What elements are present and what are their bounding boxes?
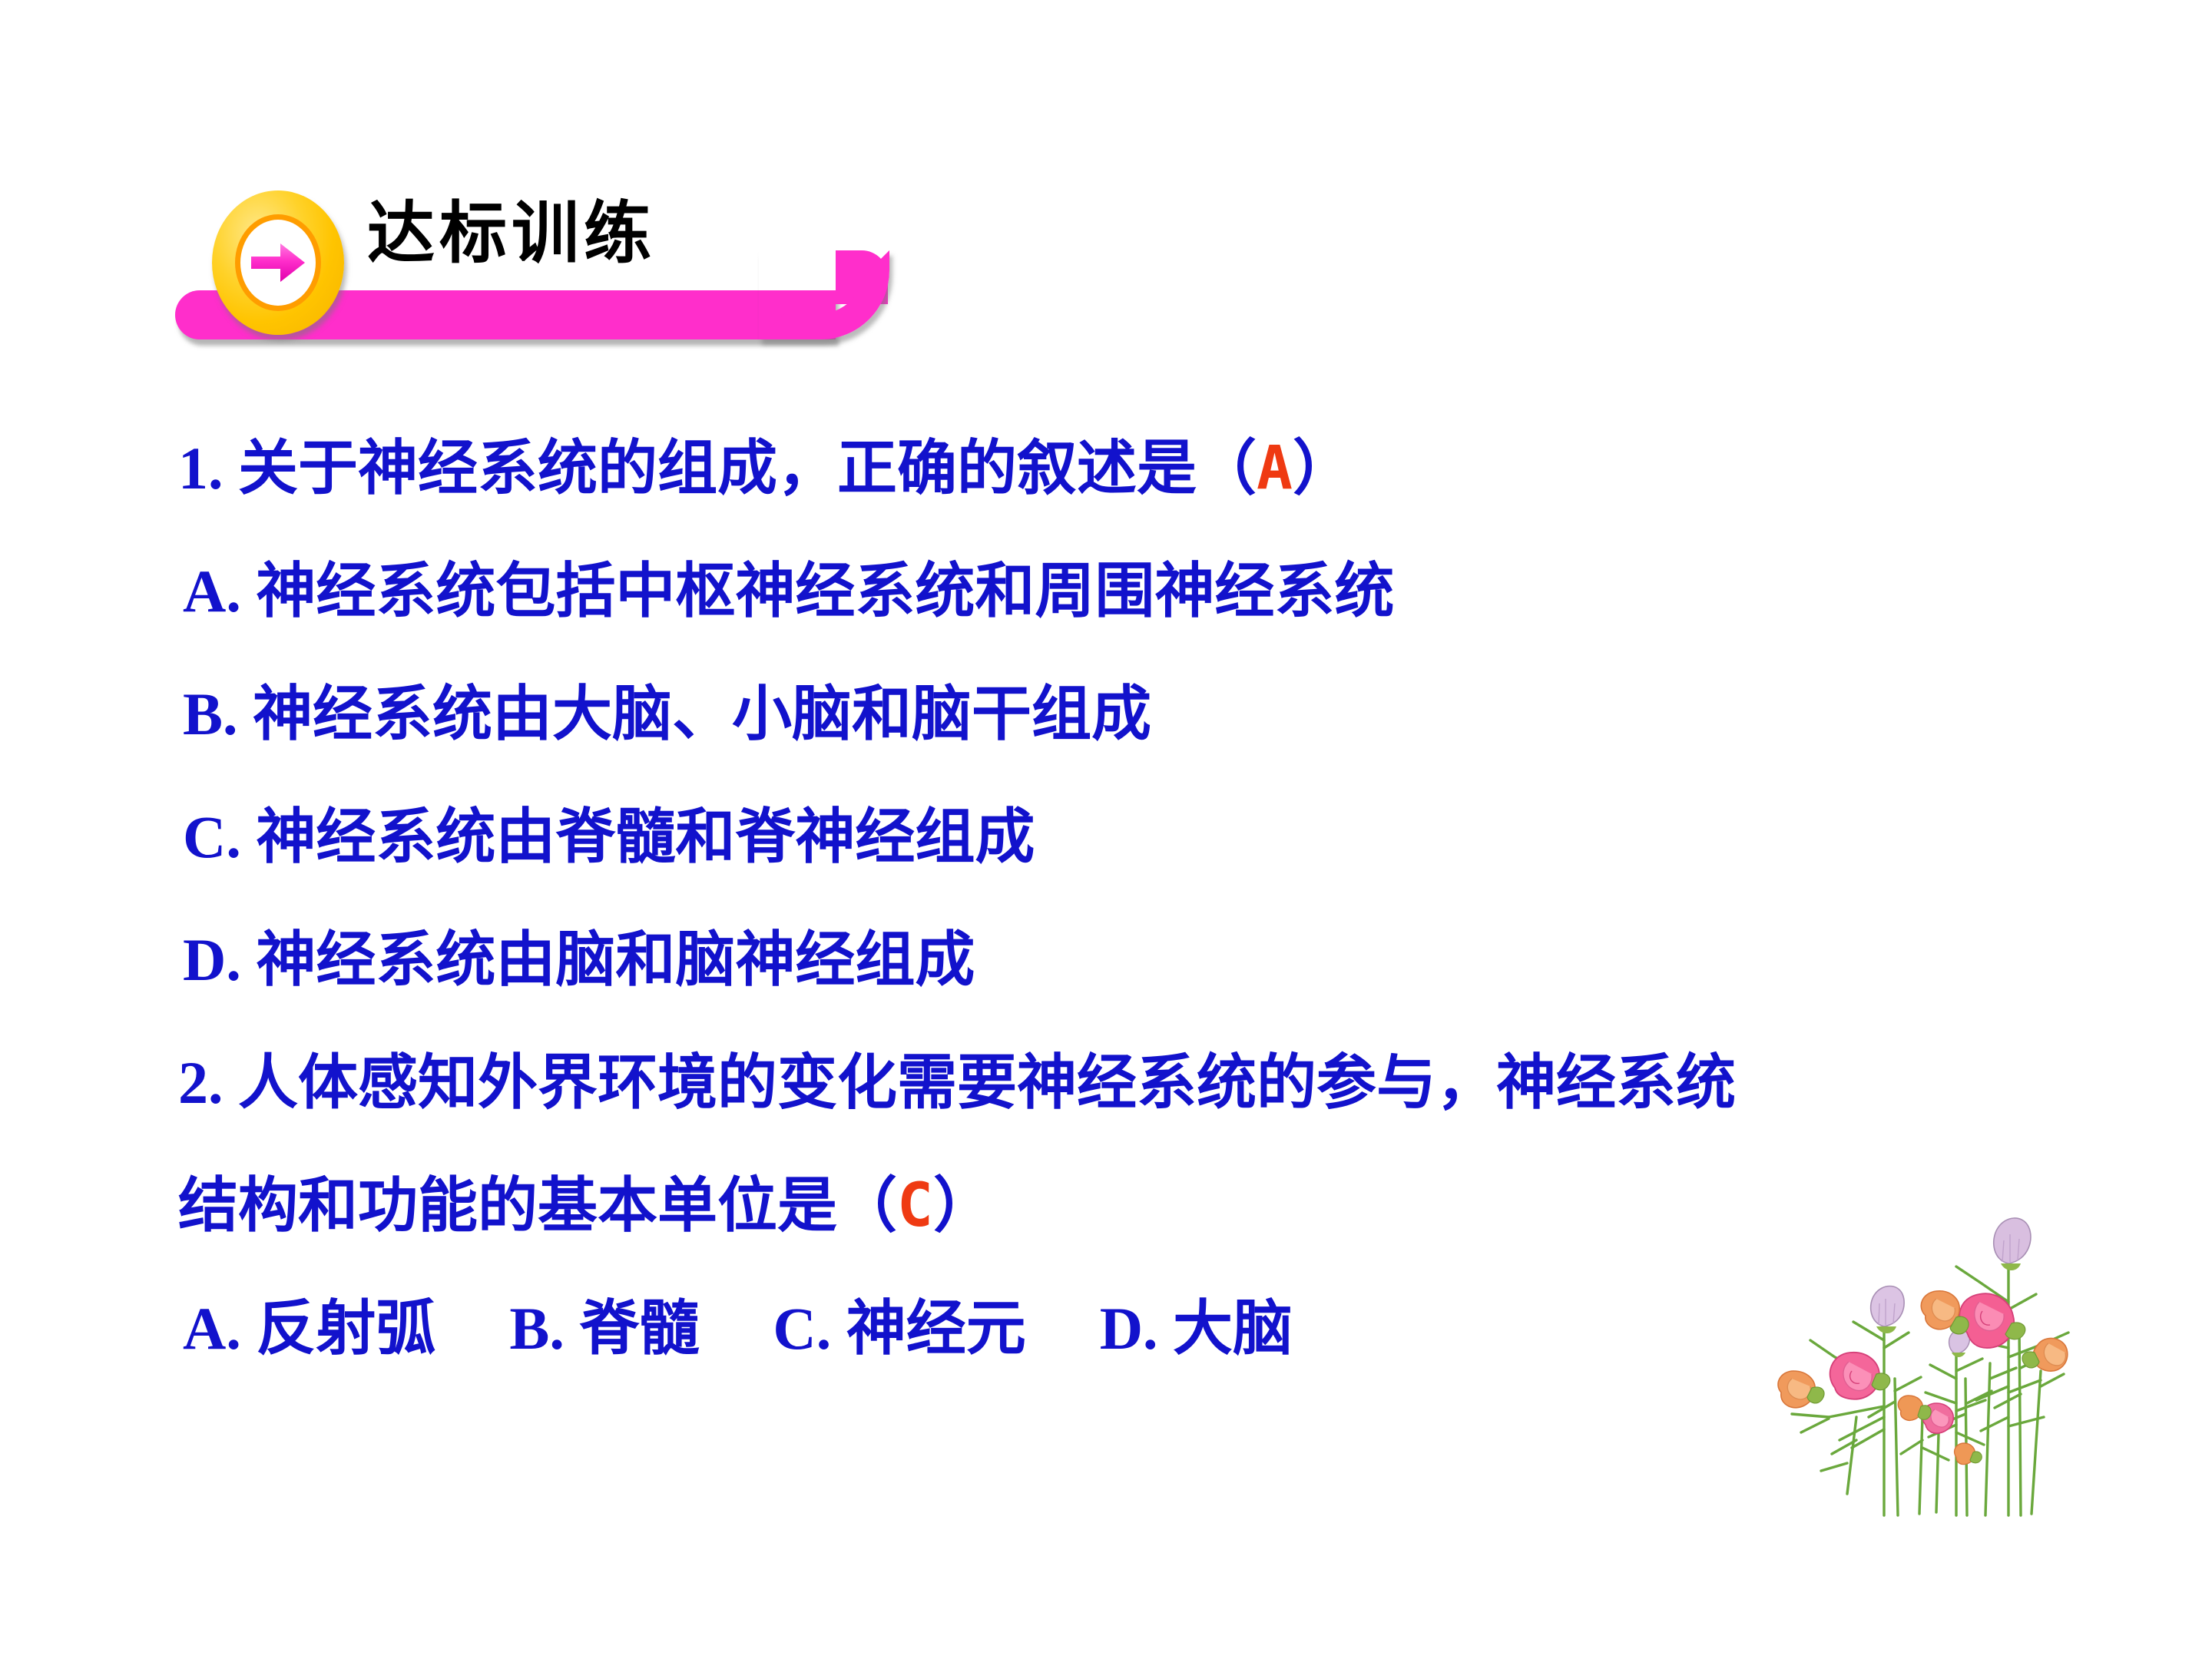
- section-header-banner: 达标训练: [175, 190, 889, 344]
- question-2-stem-close: ）: [933, 1172, 993, 1239]
- ring-inner-circle: [235, 214, 321, 311]
- flower-lavender-2: [1871, 1286, 1905, 1334]
- arrow-right-icon: [250, 242, 306, 283]
- question-1-answer: A: [1257, 434, 1293, 503]
- banner-bar-hook: [759, 250, 889, 339]
- question-1-option-b[interactable]: B. 神经系统由大脑、小脑和脑干组成: [178, 653, 2022, 776]
- question-1-stem-text: 1. 关于神经系统的组成，正确的叙述是（: [178, 435, 1257, 502]
- question-1-option-d[interactable]: D. 神经系统由脑和脑神经组成: [178, 899, 2022, 1022]
- question-2-option-a[interactable]: A. 反射弧: [183, 1295, 435, 1362]
- question-2-stem-line2: 结构和功能的基本单位是（C）: [178, 1144, 2022, 1267]
- question-2-options-row: A. 反射弧B. 脊髓C. 神经元D. 大脑: [178, 1267, 2022, 1390]
- wildflower-svg: [1755, 1187, 2078, 1517]
- question-2-stem-text: 结构和功能的基本单位是（: [178, 1172, 897, 1239]
- question-1-option-c[interactable]: C. 神经系统由脊髓和脊神经组成: [178, 776, 2022, 899]
- flower-pink-2: [1830, 1353, 1890, 1399]
- wildflower-illustration: [1755, 1187, 2078, 1517]
- question-2-option-d[interactable]: D. 大脑: [1100, 1295, 1293, 1362]
- flower-lavender-1: [1994, 1218, 2031, 1270]
- question-1-stem-close: ）: [1293, 435, 1353, 502]
- flower-orange-1: [1778, 1371, 1824, 1408]
- quiz-content: 1. 关于神经系统的组成，正确的叙述是（A） A. 神经系统包括中枢神经系统和周…: [178, 407, 2022, 1390]
- question-1-stem: 1. 关于神经系统的组成，正确的叙述是（A）: [178, 407, 2022, 530]
- question-2-option-c[interactable]: C. 神经元: [773, 1295, 1025, 1362]
- flower-orange-5: [1955, 1443, 1982, 1465]
- question-2-stem-line1: 2. 人体感知外界环境的变化需要神经系统的参与，神经系统: [178, 1022, 2022, 1144]
- banner-title: 达标训练: [367, 197, 656, 271]
- question-2-option-b[interactable]: B. 脊髓: [509, 1295, 699, 1362]
- flower-orange-4: [1898, 1396, 1931, 1420]
- question-1-option-a[interactable]: A. 神经系统包括中枢神经系统和周围神经系统: [178, 530, 2022, 653]
- gold-ring-badge-icon: [212, 190, 344, 335]
- flower-orange-3: [2022, 1338, 2068, 1371]
- question-2-answer: C: [897, 1171, 933, 1240]
